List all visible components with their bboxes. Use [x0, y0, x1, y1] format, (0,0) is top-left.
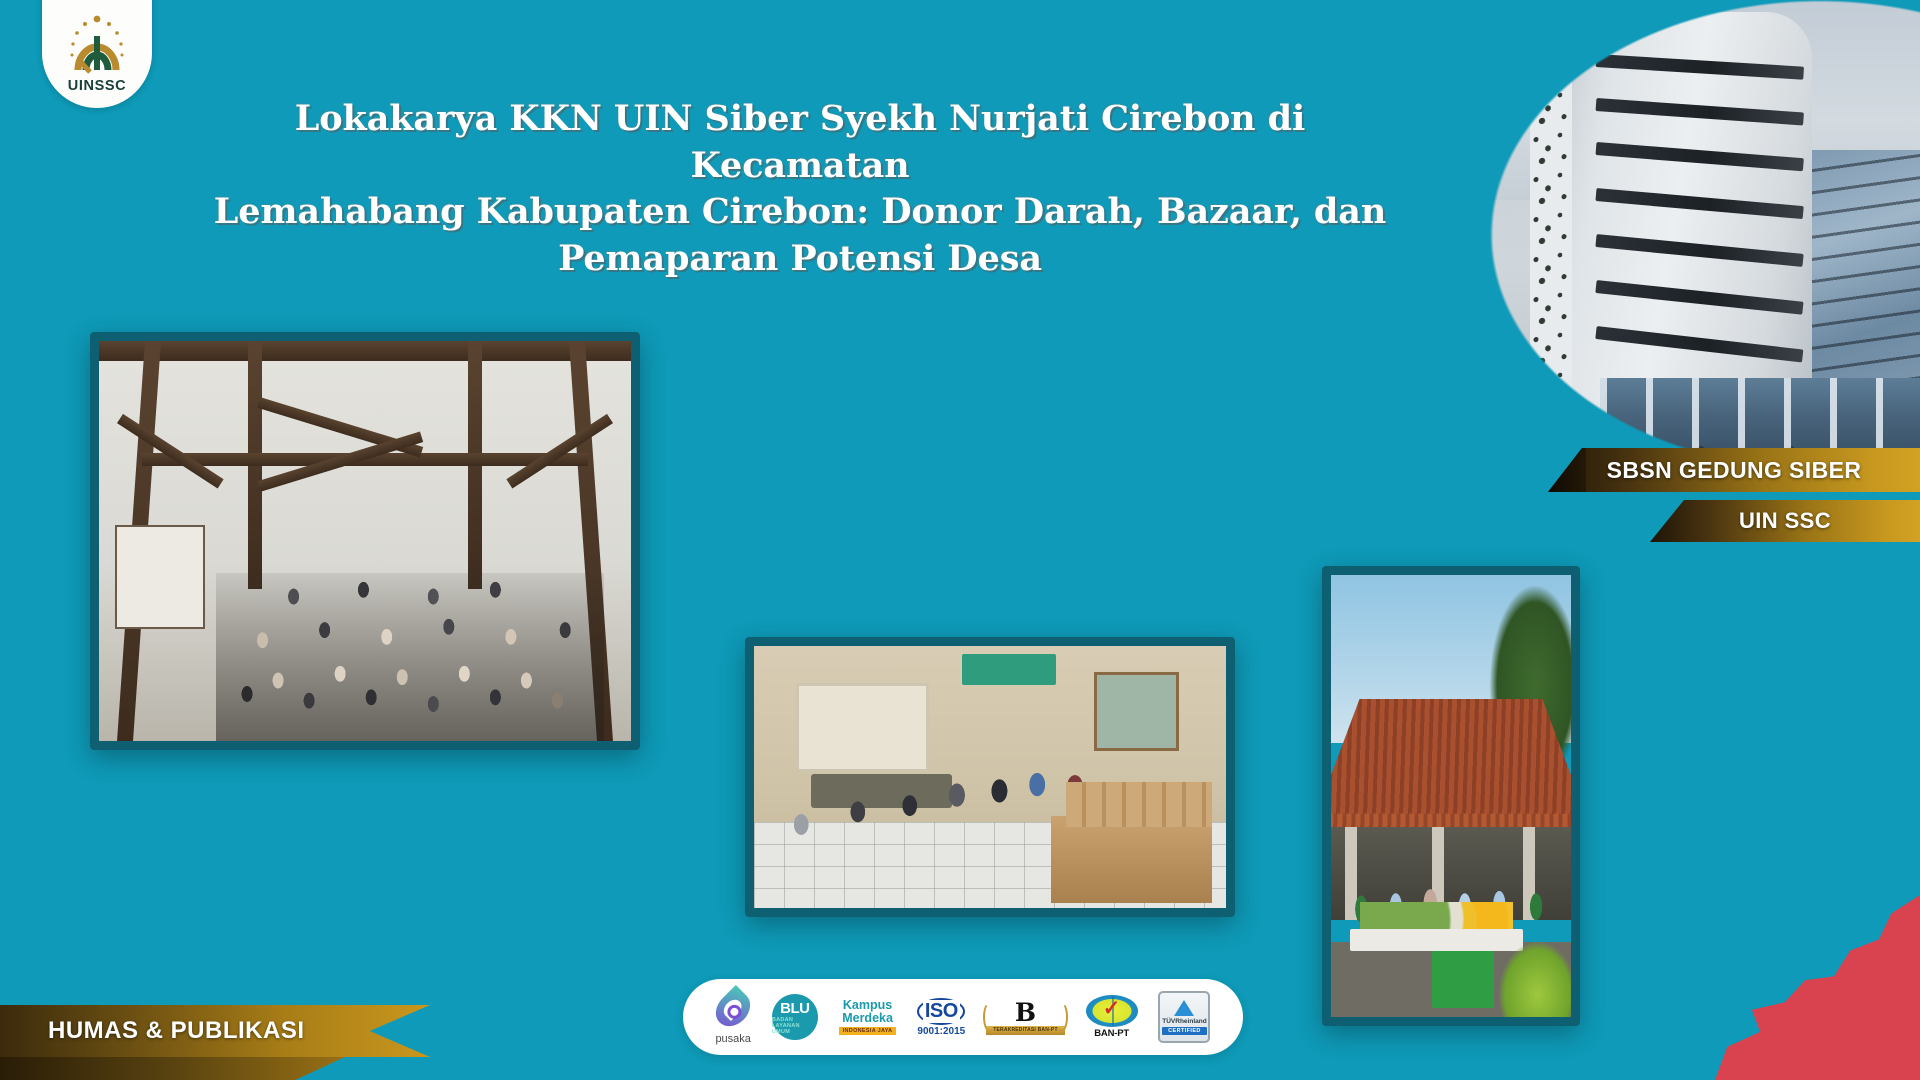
ornamental-panel-icon	[1530, 48, 1572, 392]
bazaar-photo	[1322, 566, 1580, 1026]
iso-standard: 9001:2015	[917, 1026, 965, 1037]
blu-label: BLU	[780, 1000, 809, 1017]
group-photo-image	[99, 341, 631, 741]
tuv-certified-badge: CERTIFIED	[1162, 1027, 1207, 1035]
uinssc-logo-badge: UINSSC	[42, 0, 152, 108]
ribbon-sbsn-gedung-siber: SBSN GEDUNG SIBER	[1548, 448, 1920, 492]
blu-sublabel: BADAN LAYANAN UMUM	[772, 1017, 818, 1035]
ribbon-primary-label: SBSN GEDUNG SIBER	[1607, 457, 1862, 484]
pusaka-droplet-icon	[709, 984, 757, 1032]
title-line-1: Lokakarya KKN UIN Siber Syekh Nurjati Ci…	[200, 96, 1400, 189]
checkmark-icon: ✓	[1103, 998, 1121, 1019]
partner-logo-strip: pusaka BLU BADAN LAYANAN UMUM Kampus Mer…	[683, 979, 1243, 1055]
kampus-merdeka-bottom: Merdeka	[842, 1012, 893, 1025]
akreditasi-grade: B	[1015, 1000, 1036, 1025]
akreditasi-b-logo: B TERAKREDITASI BAN-PT	[986, 1000, 1064, 1035]
group-photo	[90, 332, 640, 750]
humas-label: HUMAS & PUBLIKASI	[48, 1017, 305, 1045]
humas-banner: HUMAS & PUBLIKASI	[0, 1005, 430, 1057]
tuv-triangle-icon	[1174, 1000, 1194, 1016]
ribbon-uin-ssc: UIN SSC	[1650, 500, 1920, 542]
kampus-merdeka-logo: Kampus Merdeka INDONESIA JAYA	[839, 999, 897, 1035]
bazaar-photo-image	[1331, 575, 1571, 1017]
red-splatter-decoration	[1715, 895, 1920, 1080]
blood-donation-photo	[745, 637, 1235, 917]
ban-pt-logo: ✓ BAN-PT	[1086, 995, 1138, 1039]
laurel-right-icon	[1055, 1002, 1068, 1032]
tuv-label: TÜVRheinland	[1162, 1018, 1206, 1025]
pusaka-label: pusaka	[715, 1033, 750, 1045]
title-line-2: Lemahabang Kabupaten Cirebon: Donor Dara…	[200, 189, 1400, 236]
tuv-badge-icon: TÜVRheinland CERTIFIED	[1158, 991, 1210, 1043]
arch-emblem-icon	[64, 14, 130, 74]
iso-globe-icon: ISO	[917, 998, 965, 1025]
tuv-rheinland-logo: TÜVRheinland CERTIFIED	[1158, 991, 1210, 1043]
title-line-3: Pemaparan Potensi Desa	[200, 236, 1400, 283]
iso-label: ISO	[923, 1000, 960, 1023]
blu-logo: BLU BADAN LAYANAN UMUM	[772, 994, 818, 1040]
ban-pt-globe-icon: ✓	[1086, 995, 1138, 1027]
logo-wordmark: UINSSC	[68, 78, 126, 94]
kampus-merdeka-badge: INDONESIA JAYA	[839, 1027, 897, 1035]
laurel-left-icon	[983, 1002, 996, 1032]
iso-logo: ISO 9001:2015	[917, 998, 965, 1037]
building-photo-image	[1490, 0, 1920, 470]
akreditasi-ribbon: TERAKREDITASI BAN-PT	[986, 1026, 1064, 1035]
pusaka-logo: pusaka	[715, 990, 750, 1045]
building-photo	[1490, 0, 1920, 470]
blu-circle-icon: BLU BADAN LAYANAN UMUM	[772, 994, 818, 1040]
ribbon-secondary-label: UIN SSC	[1739, 508, 1831, 534]
blood-donation-photo-image	[754, 646, 1226, 908]
ban-pt-label: BAN-PT	[1094, 1028, 1129, 1039]
page-title: Lokakarya KKN UIN Siber Syekh Nurjati Ci…	[200, 96, 1400, 282]
